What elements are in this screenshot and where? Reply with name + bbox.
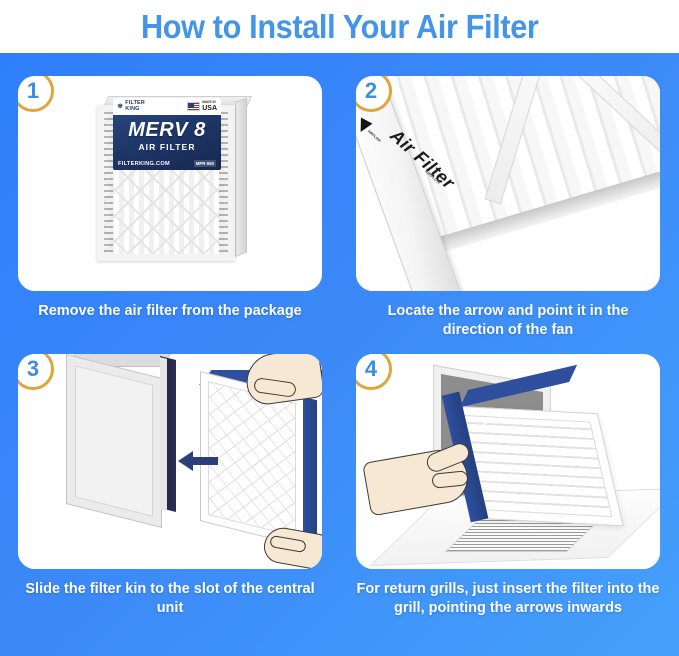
step-3: ▶▶ 3 <box>18 354 322 619</box>
direction-arrow-icon <box>176 450 220 472</box>
central-unit-slot-lip <box>160 357 167 511</box>
air-filter-product-image: ♚ FILTER KING <box>18 76 322 291</box>
steps-background: ♚ FILTER KING <box>0 53 679 656</box>
filter-corner-photo: ◀ AIRFLOW Air Filter AIRFLOW <box>356 76 660 291</box>
made-in-usa-mark: MADE IN USA <box>187 101 217 111</box>
filter-side-frame <box>303 397 317 550</box>
product-label: ♚ FILTER KING <box>113 98 221 170</box>
filter-box-3d: ♚ FILTER KING <box>97 96 247 261</box>
label-top-bar: ♚ FILTER KING <box>113 98 221 115</box>
step-1-caption: Remove the air filter from the package <box>18 302 322 321</box>
website-text: FILTERKING.COM <box>118 161 170 167</box>
slide-filter-illustration: ▶▶ <box>18 354 322 569</box>
page-title: How to Install Your Air Filter <box>141 8 539 46</box>
step-number: 2 <box>365 80 377 102</box>
filter-mesh-pattern <box>208 381 296 537</box>
usa-flag-icon <box>187 102 200 111</box>
brand-name: FILTER KING <box>125 101 145 112</box>
infographic-root: How to Install Your Air Filter <box>0 0 679 656</box>
central-unit-face <box>66 354 162 528</box>
filter-side-face <box>235 98 247 257</box>
step-2-caption: Locate the arrow and point it in the dir… <box>356 302 660 341</box>
step-1-card: ♚ FILTER KING <box>18 76 322 291</box>
step-number: 4 <box>365 358 377 380</box>
grill-louvers <box>464 415 613 517</box>
mpr-rating: MPR 650 <box>194 160 216 167</box>
crown-icon: ♚ <box>117 103 123 110</box>
filter-pleats-left <box>104 112 113 254</box>
step-2: ◀ AIRFLOW Air Filter AIRFLOW 2 Locate th… <box>356 76 660 341</box>
return-grill-illustration: ▶▶ <box>356 354 660 569</box>
label-bottom-bar: FILTERKING.COM MPR 650 <box>118 160 216 167</box>
merv-rating: MERV 8 <box>113 120 221 140</box>
brand-line-2: KING <box>125 106 139 112</box>
step-4-card: ▶▶ 4 <box>356 354 660 569</box>
step-4: ▶▶ 4 For return grills, just insert the … <box>356 354 660 619</box>
step-number: 3 <box>27 358 39 380</box>
header-band: How to Install Your Air Filter <box>0 0 679 53</box>
step-4-caption: For return grills, just insert the filte… <box>356 580 660 619</box>
brand-logo: ♚ FILTER KING <box>117 101 145 112</box>
step-3-card: ▶▶ 3 <box>18 354 322 569</box>
made-in-usa-text: MADE IN USA <box>202 101 217 111</box>
step-2-card: ◀ AIRFLOW Air Filter AIRFLOW 2 <box>356 76 660 291</box>
air-filter-corner-image: ◀ AIRFLOW Air Filter AIRFLOW <box>356 76 660 291</box>
country-label: USA <box>202 105 217 112</box>
central-unit-inner-panel <box>75 365 153 516</box>
step-1: ♚ FILTER KING <box>18 76 322 321</box>
steps-grid: ♚ FILTER KING <box>0 53 679 656</box>
step-3-caption: Slide the filter kin to the slot of the … <box>18 580 322 619</box>
step-number: 1 <box>27 80 39 102</box>
product-type: AIR FILTER <box>113 143 221 152</box>
